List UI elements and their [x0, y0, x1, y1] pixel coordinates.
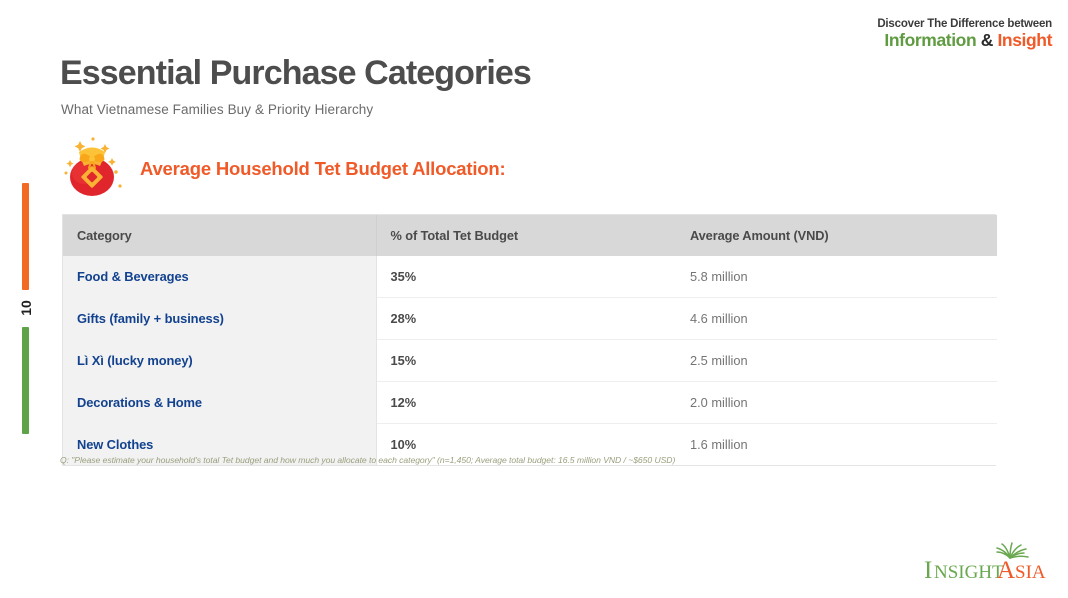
column-header-percent: % of Total Tet Budget — [376, 215, 676, 256]
section-title: Average Household Tet Budget Allocation: — [140, 158, 505, 180]
table-header: Category % of Total Tet Budget Average A… — [63, 215, 997, 256]
cell-percent: 15% — [376, 340, 676, 382]
tagline-line1: Discover The Difference between — [877, 18, 1052, 30]
table-header-row: Category % of Total Tet Budget Average A… — [63, 215, 997, 256]
table-body: Food & Beverages 35% 5.8 million Gifts (… — [63, 256, 997, 465]
cell-category: Decorations & Home — [63, 382, 376, 424]
section-heading: Average Household Tet Budget Allocation: — [58, 136, 505, 198]
column-header-amount: Average Amount (VND) — [676, 215, 997, 256]
insightasia-logo: I NSIGHT A SIA — [922, 542, 1054, 588]
cell-percent: 35% — [376, 256, 676, 298]
table-row: Lì Xì (lucky money) 15% 2.5 million — [63, 340, 997, 382]
tagline-line2: Information & Insight — [877, 31, 1052, 49]
budget-table-container: Category % of Total Tet Budget Average A… — [62, 214, 996, 466]
budget-table: Category % of Total Tet Budget Average A… — [63, 215, 997, 465]
table-row: Food & Beverages 35% 5.8 million — [63, 256, 997, 298]
page-title: Essential Purchase Categories — [60, 54, 531, 93]
table-row: Gifts (family + business) 28% 4.6 millio… — [63, 298, 997, 340]
cell-category: Gifts (family + business) — [63, 298, 376, 340]
cell-amount: 2.0 million — [676, 382, 997, 424]
cell-category: Food & Beverages — [63, 256, 376, 298]
table-row: Decorations & Home 12% 2.0 million — [63, 382, 997, 424]
svg-text:NSIGHT: NSIGHT — [934, 562, 1004, 583]
tagline-ampersand: & — [981, 30, 993, 50]
svg-text:A: A — [997, 557, 1015, 584]
brand-tagline: Discover The Difference between Informat… — [877, 18, 1052, 49]
rail-orange — [22, 183, 29, 290]
page-number: 10 — [10, 296, 42, 320]
cell-amount: 5.8 million — [676, 256, 997, 298]
tagline-insight: Insight — [997, 30, 1052, 50]
cell-percent: 12% — [376, 382, 676, 424]
cell-percent: 28% — [376, 298, 676, 340]
cell-amount: 4.6 million — [676, 298, 997, 340]
tagline-information: Information — [884, 30, 976, 50]
page-subtitle: What Vietnamese Families Buy & Priority … — [61, 102, 373, 117]
cell-amount: 1.6 million — [676, 424, 997, 466]
column-header-category: Category — [63, 215, 376, 256]
footnote: Q: "Please estimate your household's tot… — [60, 455, 675, 465]
rail-green — [22, 327, 29, 434]
palm-burst-icon — [997, 543, 1028, 558]
cell-category: Lì Xì (lucky money) — [63, 340, 376, 382]
svg-text:I: I — [924, 557, 932, 584]
svg-text:SIA: SIA — [1015, 562, 1046, 583]
money-bag-icon — [58, 136, 130, 198]
cell-amount: 2.5 million — [676, 340, 997, 382]
